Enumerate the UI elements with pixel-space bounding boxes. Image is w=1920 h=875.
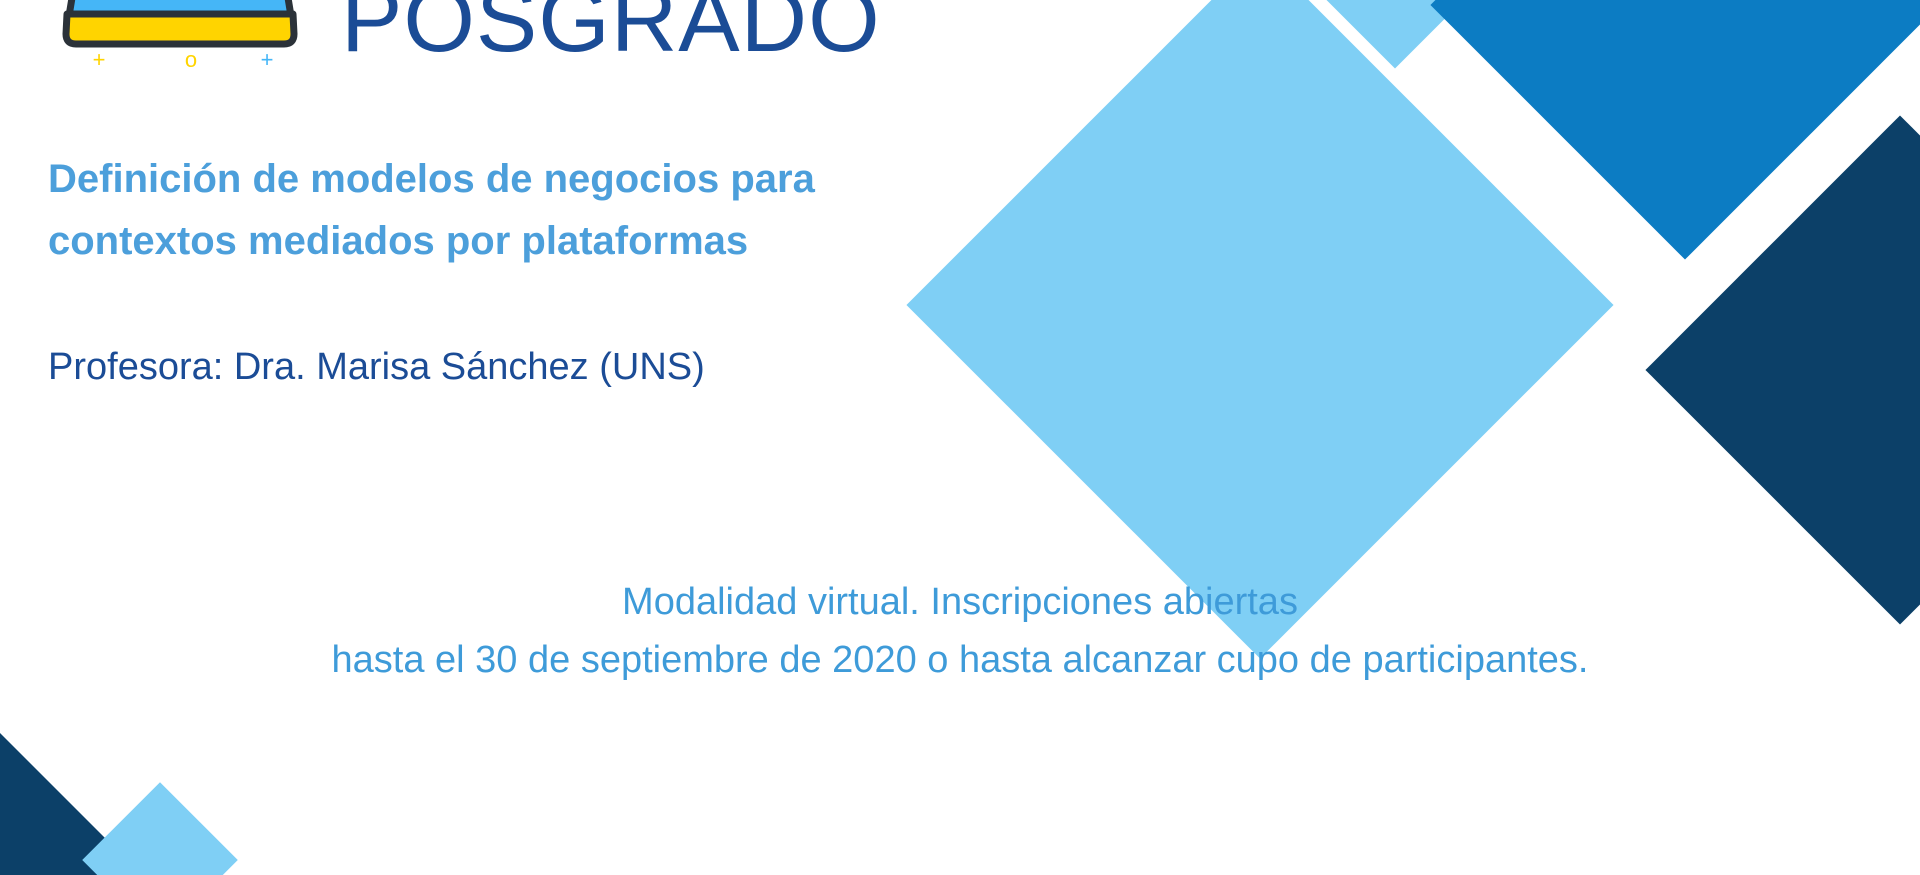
page-title: POSGRADO <box>341 0 881 66</box>
enrollment-line-1: Modalidad virtual. Inscripciones abierta… <box>0 574 1920 632</box>
rotated-square-light-main <box>906 0 1613 659</box>
rotated-square-medium-blue <box>1430 0 1920 260</box>
laptop-icon: + o + <box>45 0 315 70</box>
circle-symbol-yellow: o <box>185 47 197 70</box>
professor-line: Profesora: Dra. Marisa Sánchez (UNS) <box>48 341 705 394</box>
rotated-square-light-top <box>1247 0 1544 68</box>
plus-symbol-blue: + <box>261 47 274 70</box>
poster-canvas: + o + POSGRADO Definición de modelos de … <box>0 0 1920 875</box>
course-headline-line-1: Definición de modelos de negocios para <box>48 148 1048 210</box>
plus-symbol-yellow: + <box>93 47 106 70</box>
triangle-dark-bottom-left <box>0 721 188 875</box>
enrollment-line-2: hasta el 30 de septiembre de 2020 o hast… <box>0 632 1920 690</box>
enrollment-info: Modalidad virtual. Inscripciones abierta… <box>0 574 1920 690</box>
rotated-square-dark-navy <box>1645 115 1920 624</box>
triangle-light-bottom-left <box>82 782 238 875</box>
poster-header: + o + POSGRADO <box>0 0 881 70</box>
decorative-shapes-layer <box>0 0 1920 875</box>
course-headline-line-2: contextos mediados por plataformas <box>48 210 1048 272</box>
course-headline: Definición de modelos de negocios para c… <box>48 148 1048 272</box>
